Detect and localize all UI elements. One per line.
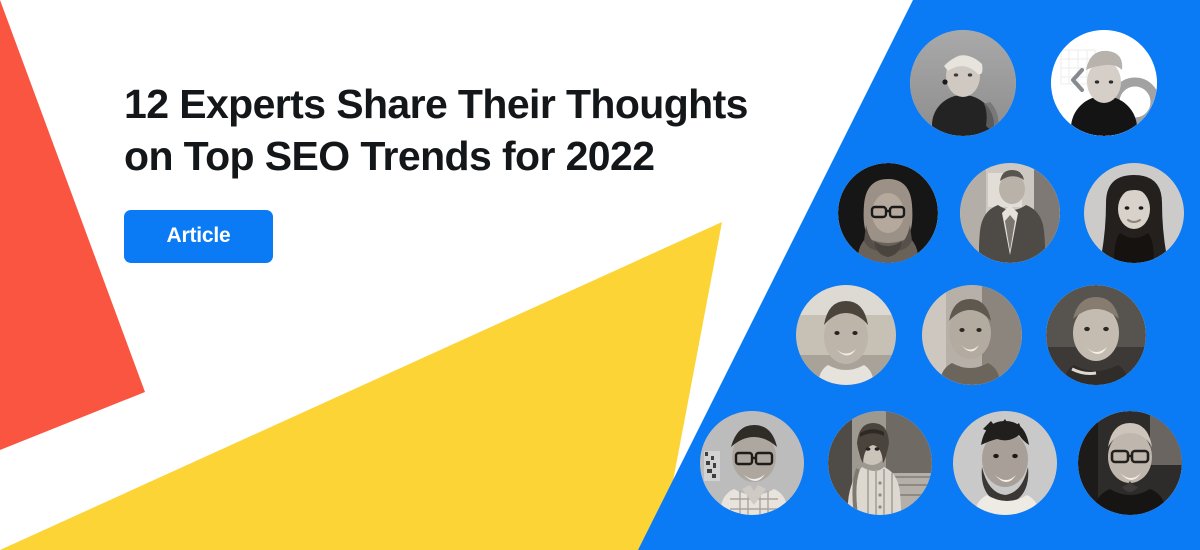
avatar-7-photo bbox=[922, 285, 1022, 385]
cta-wrapper: Article bbox=[124, 210, 784, 263]
avatar-1-photo bbox=[910, 30, 1016, 136]
avatar-10-photo bbox=[828, 411, 932, 515]
avatar-3[interactable] bbox=[838, 163, 938, 263]
avatar-12[interactable] bbox=[1078, 411, 1182, 515]
avatar-12-photo bbox=[1078, 411, 1182, 515]
avatar-5[interactable] bbox=[1084, 163, 1184, 263]
avatar-2-photo bbox=[1051, 30, 1157, 136]
avatar-5-photo bbox=[1084, 163, 1184, 263]
avatar-2[interactable] bbox=[1051, 30, 1157, 136]
avatar-10[interactable] bbox=[828, 411, 932, 515]
avatar-11[interactable] bbox=[953, 411, 1057, 515]
avatar-8-photo bbox=[1046, 285, 1146, 385]
avatar-9-photo bbox=[700, 411, 804, 515]
page-title: 12 Experts Share Their Thoughts on Top S… bbox=[124, 78, 784, 182]
avatar-7[interactable] bbox=[922, 285, 1022, 385]
avatar-1[interactable] bbox=[910, 30, 1016, 136]
avatar-3-photo bbox=[838, 163, 938, 263]
avatar-6-photo bbox=[796, 285, 896, 385]
avatar-8[interactable] bbox=[1046, 285, 1146, 385]
avatar-11-photo bbox=[953, 411, 1057, 515]
avatar-6[interactable] bbox=[796, 285, 896, 385]
avatar-4-photo bbox=[960, 163, 1060, 263]
article-button[interactable]: Article bbox=[124, 210, 273, 263]
article-banner: 12 Experts Share Their Thoughts on Top S… bbox=[0, 0, 1200, 550]
avatar-4[interactable] bbox=[960, 163, 1060, 263]
banner-content: 12 Experts Share Their Thoughts on Top S… bbox=[124, 78, 784, 263]
page-title-line-2: on Top SEO Trends for 2022 bbox=[124, 130, 784, 182]
avatar-9[interactable] bbox=[700, 411, 804, 515]
page-title-line-1: 12 Experts Share Their Thoughts bbox=[124, 78, 784, 130]
